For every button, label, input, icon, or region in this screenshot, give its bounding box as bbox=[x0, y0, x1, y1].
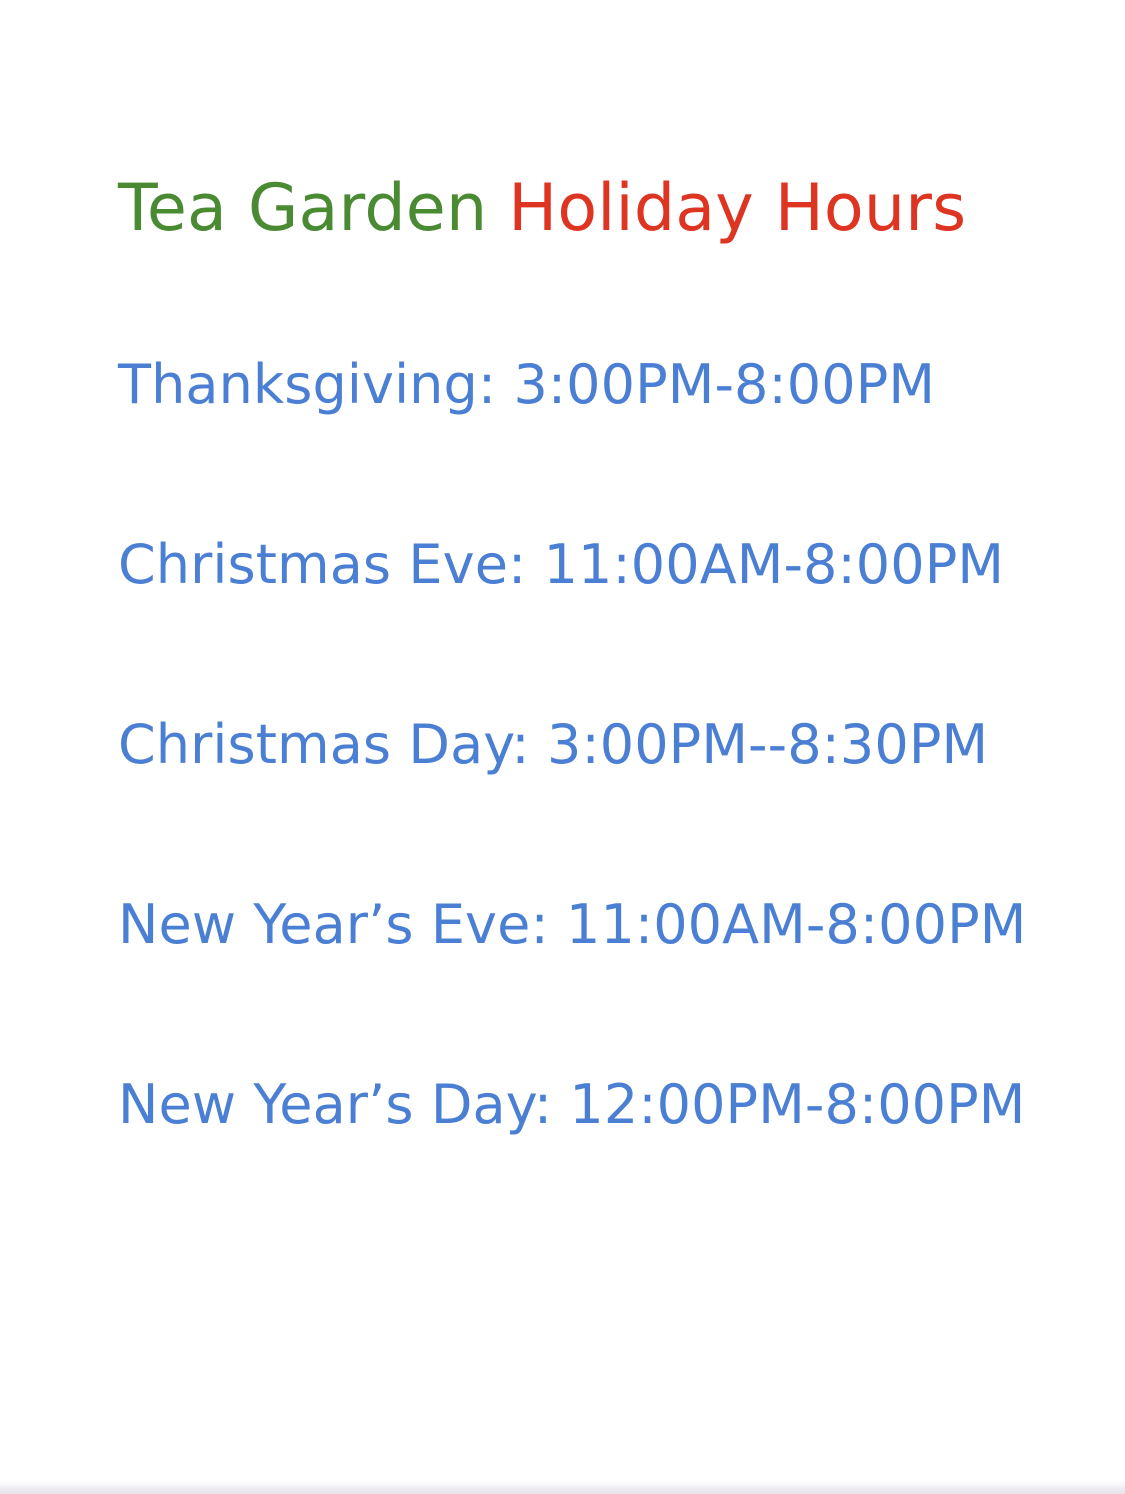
holiday-time: 11:00AM-8:00PM bbox=[566, 893, 1026, 956]
holiday-label: Christmas Eve: bbox=[118, 533, 526, 596]
page-bottom-edge bbox=[0, 1480, 1125, 1494]
holiday-time: 12:00PM-8:00PM bbox=[569, 1073, 1025, 1136]
holiday-time: 3:00PM-8:00PM bbox=[513, 353, 935, 416]
title-subject: Holiday Hours bbox=[508, 171, 966, 246]
hours-row-christmas-eve: Christmas Eve: 11:00AM-8:00PM bbox=[118, 538, 1078, 592]
title-business-name: Tea Garden bbox=[118, 171, 487, 246]
hours-row-thanksgiving: Thanksgiving: 3:00PM-8:00PM bbox=[118, 358, 1078, 412]
title-space bbox=[487, 171, 508, 246]
holiday-label: New Year’s Day: bbox=[118, 1073, 552, 1136]
holiday-time: 3:00PM--8:30PM bbox=[547, 713, 988, 776]
holiday-label: New Year’s Eve: bbox=[118, 893, 549, 956]
hours-row-new-years-day: New Year’s Day: 12:00PM-8:00PM bbox=[118, 1078, 1078, 1132]
holiday-hours-list: Thanksgiving: 3:00PM-8:00PM Christmas Ev… bbox=[118, 358, 1078, 1132]
holiday-label: Christmas Day: bbox=[118, 713, 530, 776]
holiday-hours-sign: Tea Garden Holiday Hours Thanksgiving: 3… bbox=[0, 0, 1125, 1494]
hours-row-new-years-eve: New Year’s Eve: 11:00AM-8:00PM bbox=[118, 898, 1078, 952]
holiday-label: Thanksgiving: bbox=[118, 353, 496, 416]
hours-row-christmas-day: Christmas Day: 3:00PM--8:30PM bbox=[118, 718, 1078, 772]
page-title: Tea Garden Holiday Hours bbox=[118, 176, 966, 241]
holiday-time: 11:00AM-8:00PM bbox=[544, 533, 1004, 596]
